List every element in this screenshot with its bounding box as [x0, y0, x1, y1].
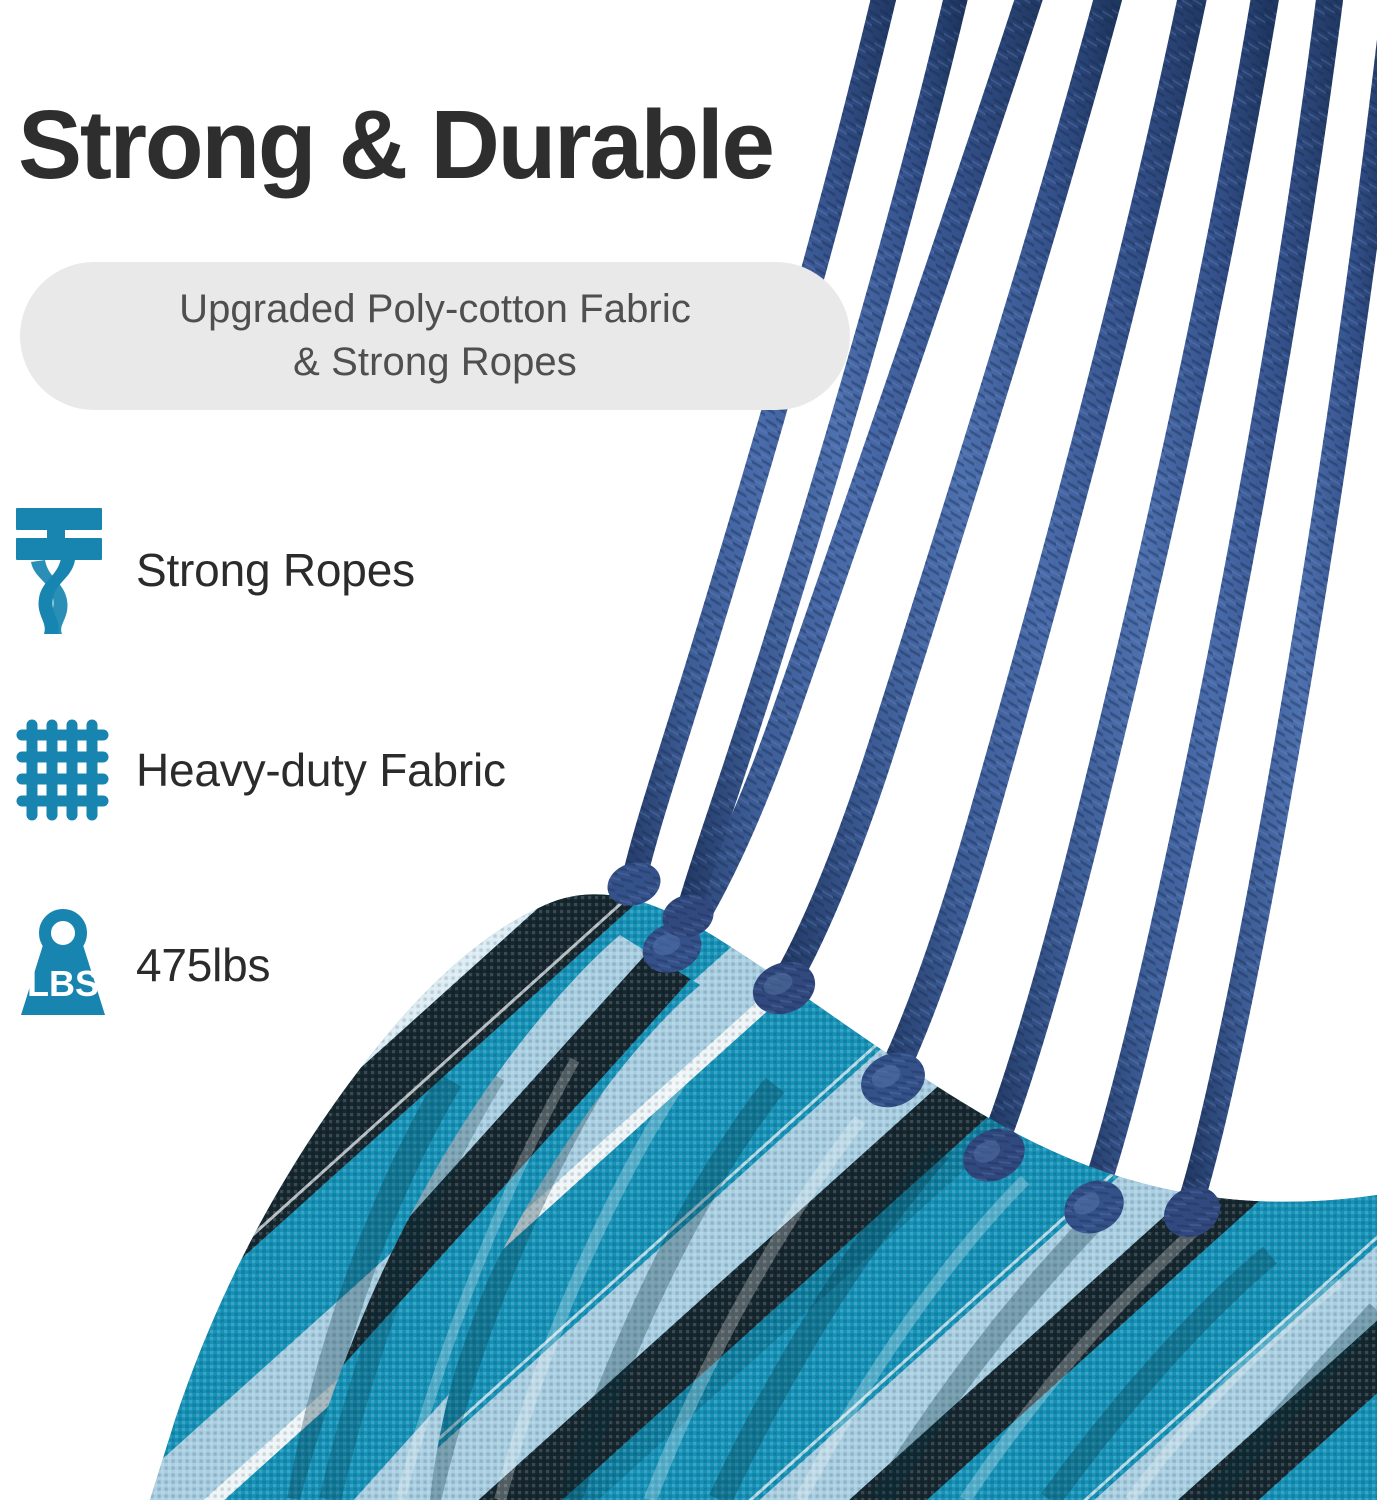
feature-item-heavy-duty-fabric: Heavy-duty Fabric — [0, 670, 680, 870]
feature-item-weight-capacity: LBS 475lbs — [0, 870, 680, 1060]
woven-fabric-grid-icon — [0, 704, 118, 836]
feature-label-weight-capacity: 475lbs — [136, 938, 270, 992]
weight-lbs-icon: LBS — [0, 899, 118, 1031]
page-title: Strong & Durable — [18, 96, 773, 193]
feature-item-strong-ropes: Strong Ropes — [0, 470, 680, 670]
subtitle-badge: Upgraded Poly-cotton Fabric & Strong Rop… — [20, 262, 850, 410]
subtitle-text: Upgraded Poly-cotton Fabric & Strong Rop… — [179, 283, 691, 389]
infographic-canvas: Strong & Durable Upgraded Poly-cotton Fa… — [0, 0, 1377, 1500]
feature-list: Strong Ropes — [0, 470, 680, 1060]
feature-label-heavy-duty-fabric: Heavy-duty Fabric — [136, 743, 506, 797]
rope-twist-icon — [0, 504, 118, 636]
feature-label-strong-ropes: Strong Ropes — [136, 543, 415, 597]
weight-icon-lbs-label: LBS — [27, 963, 99, 1004]
